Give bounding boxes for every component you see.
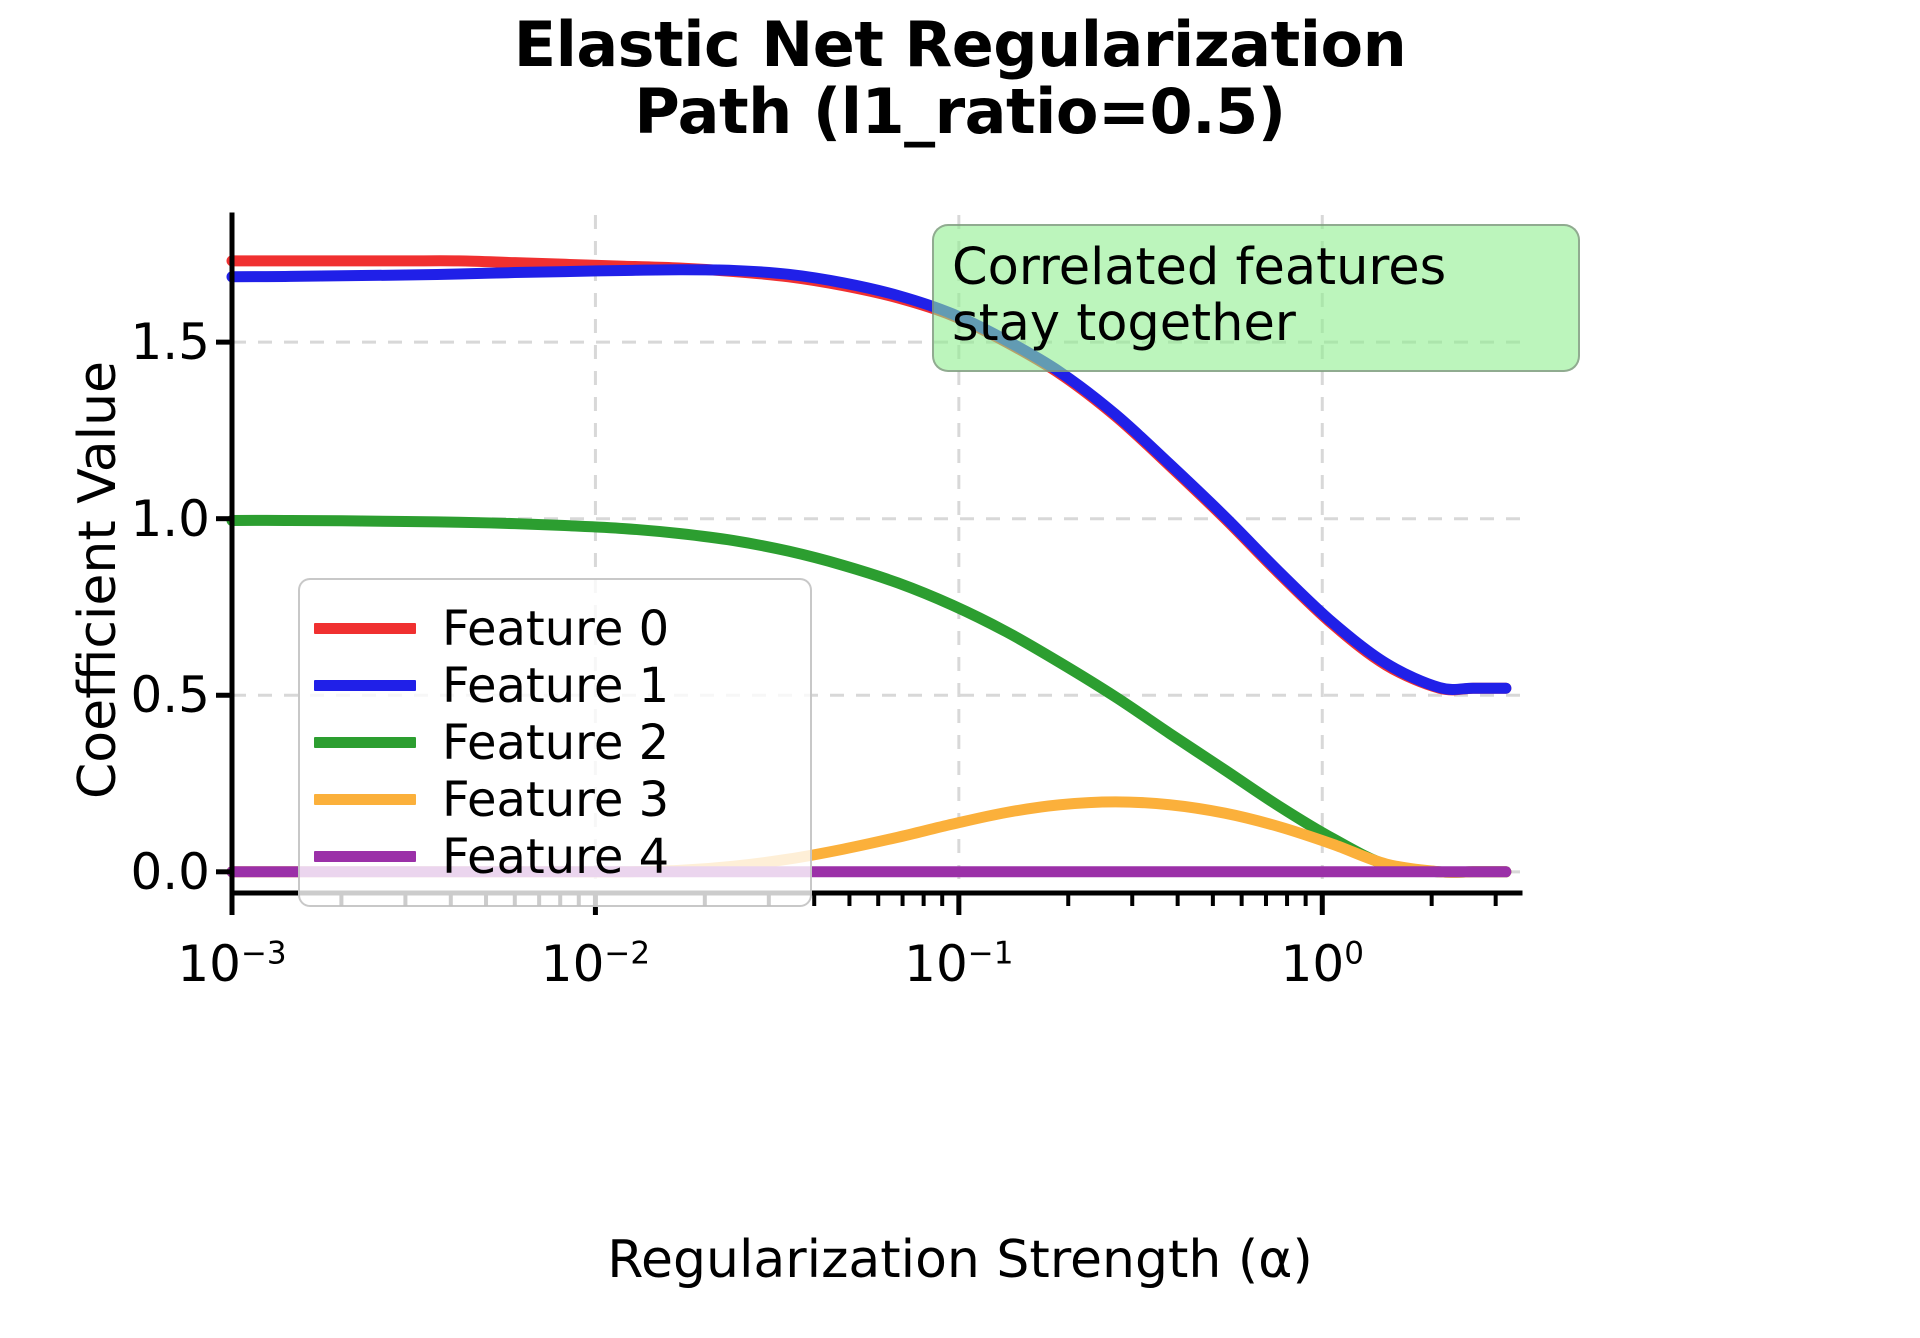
y-tick-label: 1.0 [60,490,210,548]
x-tick-label: 100 [1281,935,1364,993]
legend-item-label: Feature 0 [442,601,669,657]
x-tick-label: 10−1 [904,935,1013,993]
legend-item-label: Feature 3 [442,772,669,828]
chart-legend: Feature 0Feature 1Feature 2Feature 3Feat… [298,578,812,907]
legend-item[interactable]: Feature 0 [314,600,798,657]
chart-figure: Elastic Net Regularization Path (l1_rati… [0,0,1920,1338]
legend-item[interactable]: Feature 4 [314,828,798,885]
legend-item-label: Feature 4 [442,829,669,885]
annotation-callout: Correlated features stay together [932,224,1580,372]
x-tick-label: 10−2 [541,935,650,993]
y-tick-label: 0.0 [60,843,210,901]
plot-area [0,0,1920,1338]
legend-color-swatch [314,794,416,805]
legend-color-swatch [314,680,416,691]
legend-item[interactable]: Feature 1 [314,657,798,714]
legend-color-swatch [314,851,416,862]
legend-color-swatch [314,623,416,634]
y-tick-label: 1.5 [60,313,210,371]
x-tick-label: 10−3 [177,935,286,993]
legend-item[interactable]: Feature 3 [314,771,798,828]
y-tick-label: 0.5 [60,666,210,724]
legend-color-swatch [314,737,416,748]
legend-item-label: Feature 2 [442,715,669,771]
legend-item[interactable]: Feature 2 [314,714,798,771]
legend-item-label: Feature 1 [442,658,669,714]
